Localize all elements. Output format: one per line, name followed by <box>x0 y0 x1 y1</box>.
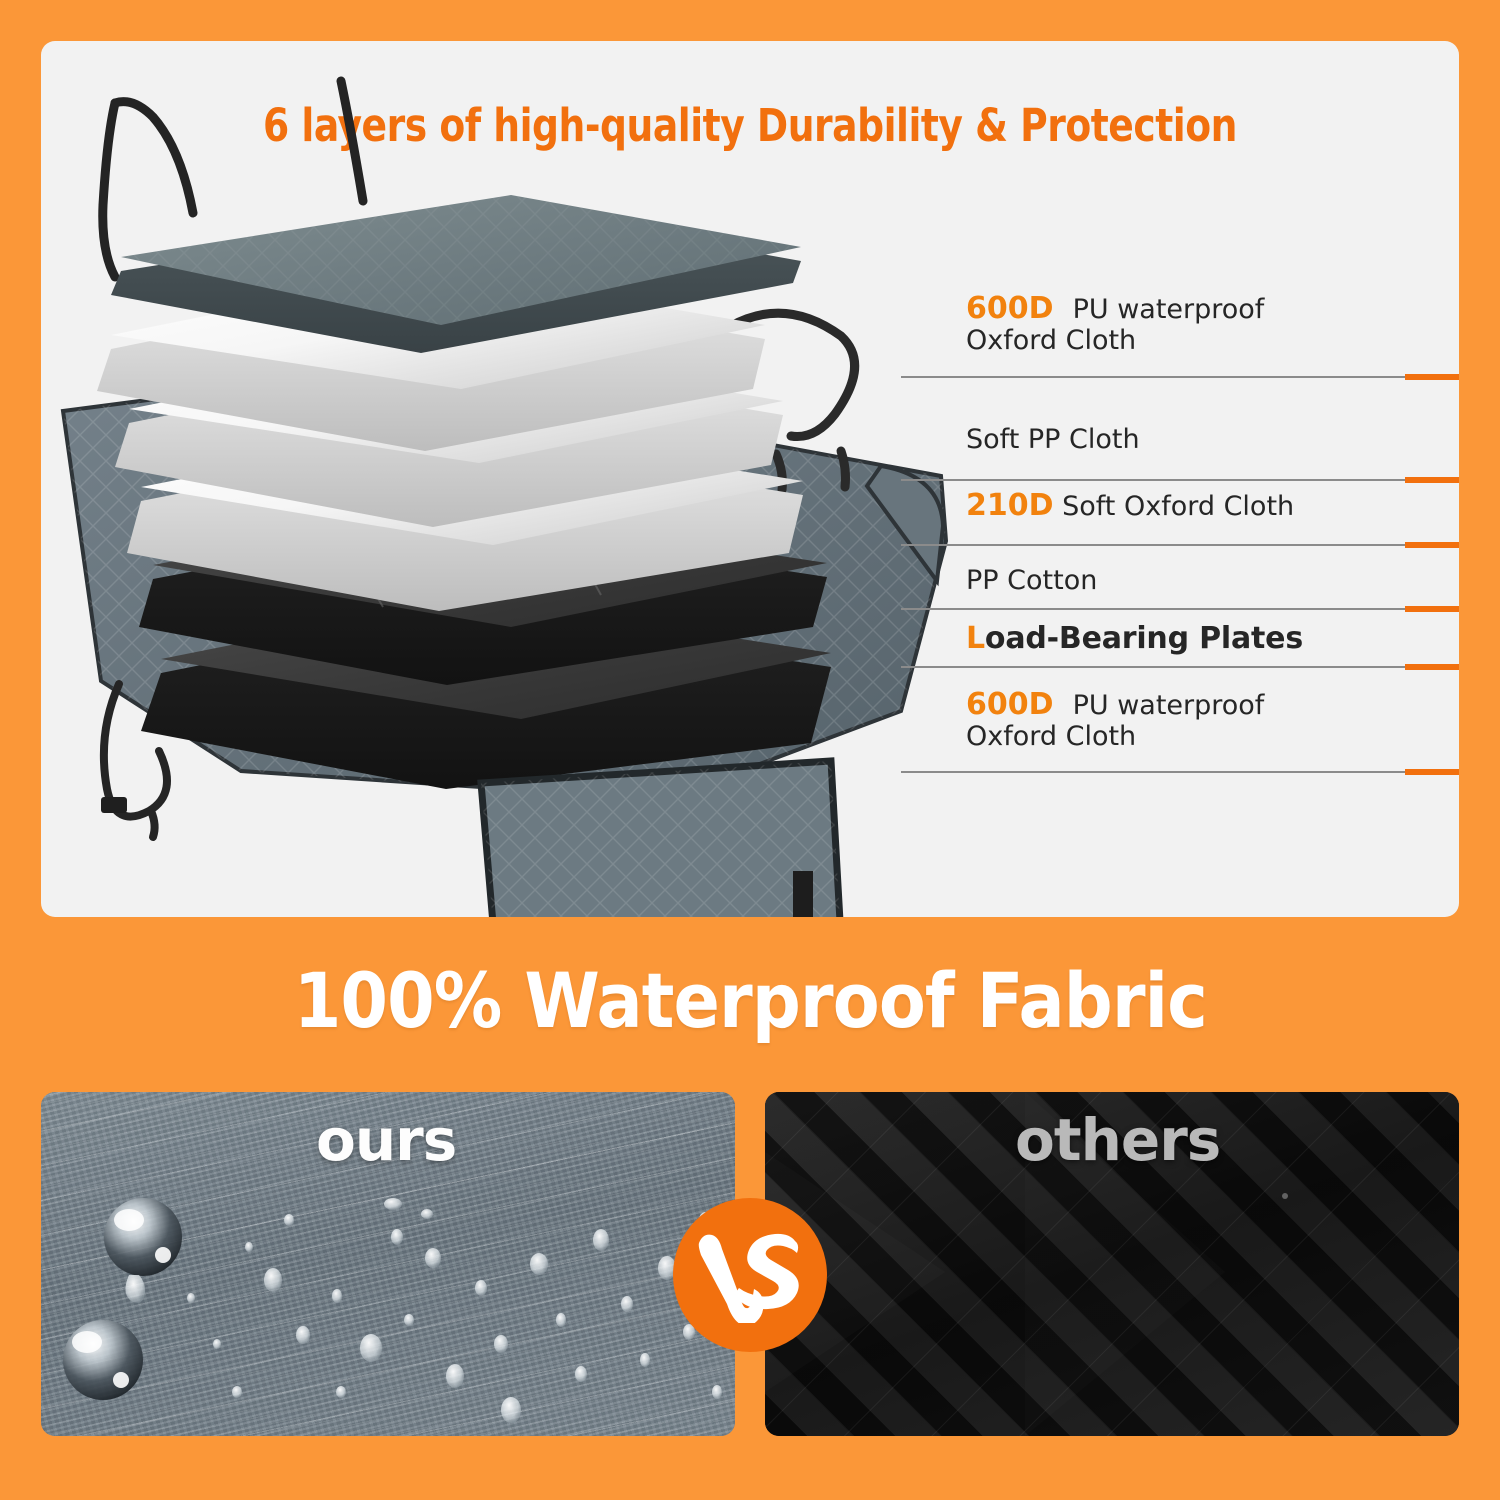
callout-rest: Soft PP Cloth <box>966 424 1140 455</box>
vs-brush-glyph <box>691 1227 809 1323</box>
callout-leader-line <box>901 544 1459 546</box>
callout-accent-dash <box>1405 542 1459 548</box>
flap-strap-tab <box>793 871 813 917</box>
callout-accent-dash <box>1405 477 1459 483</box>
callout-leader-line <box>901 771 1459 773</box>
callout-leader-line <box>901 479 1459 481</box>
callout-rest: PP Cotton <box>966 565 1097 596</box>
callout-prefix: 600D <box>966 291 1054 326</box>
callout-prefix: 600D <box>966 687 1054 722</box>
banner-title: 100% Waterproof Fabric <box>293 956 1206 1045</box>
comparison-panel-ours: ours <box>41 1092 735 1436</box>
callout-accent-dash <box>1405 769 1459 775</box>
seat-back-flap <box>481 761 849 917</box>
layer-callout-list: 600D PU waterproof Oxford Cloth Soft PP … <box>901 236 1459 776</box>
callout-rest: oad-Bearing Plates <box>985 621 1303 656</box>
vs-badge <box>673 1198 827 1352</box>
layers-feature-panel: 6 layers of high-quality Durability & Pr… <box>41 41 1459 917</box>
callout-accent-dash <box>1405 664 1459 670</box>
callout-prefix: 210D <box>966 488 1054 523</box>
comparison-panel-others: others <box>765 1092 1459 1436</box>
callout-line2: Oxford Cloth <box>966 721 1136 752</box>
ours-label: ours <box>316 1106 456 1174</box>
waterproof-banner: 100% Waterproof Fabric <box>0 930 1500 1070</box>
strap-buckle <box>101 797 127 813</box>
callout-rest: PU waterproof <box>1064 294 1264 325</box>
callout-accent-dash <box>1405 606 1459 612</box>
callout-accent-dash <box>1405 374 1459 380</box>
callout-rest: PU waterproof <box>1064 690 1264 721</box>
callout-prefix: L <box>966 621 985 656</box>
product-exploded-illustration <box>41 71 961 917</box>
others-label: others <box>1015 1106 1220 1174</box>
callout-leader-line <box>901 376 1459 378</box>
product-svg <box>41 71 961 917</box>
callout-leader-line <box>901 666 1459 668</box>
callout-line2: Oxford Cloth <box>966 325 1136 356</box>
callout-leader-line <box>901 608 1459 610</box>
callout-rest: Soft Oxford Cloth <box>1054 491 1295 522</box>
